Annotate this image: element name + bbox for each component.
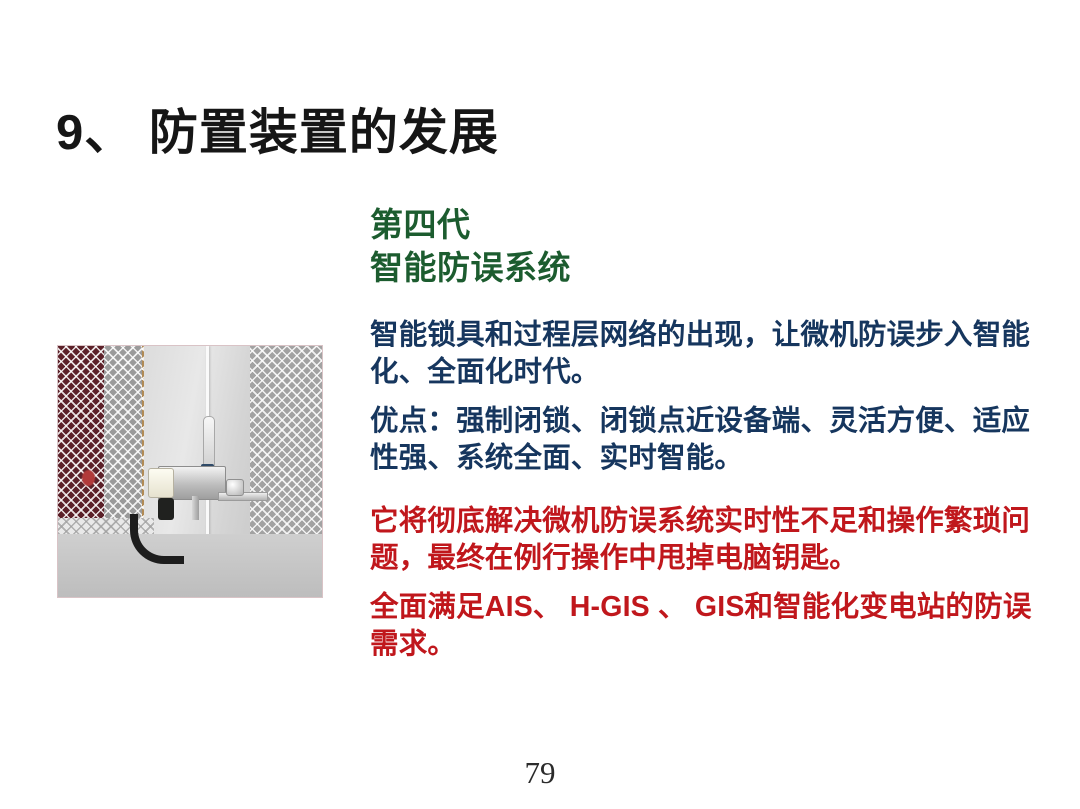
content-text-column: 第四代 智能防误系统 智能锁具和过程层网络的出现，让微机防误步入智能化、全面化时… (370, 204, 1050, 663)
generation-heading-line-1: 第四代 (370, 204, 1050, 247)
benefit-paragraph: 它将彻底解决微机防误系统实时性不足和操作繁琐问题，最终在例行操作中甩掉电脑钥匙。 (370, 503, 1050, 577)
spacer-blue-red (370, 477, 1050, 503)
smart-lock-bolt (192, 496, 199, 520)
spacer-red (370, 577, 1050, 589)
spacer-after-heading (370, 290, 1050, 317)
door-handle-slot (203, 416, 215, 470)
page-number: 79 (0, 755, 1080, 791)
generation-heading-line-2: 智能防误系统 (370, 247, 1050, 290)
slide-canvas: 9、 防置装置的发展 第四代 智能防误系统 智能锁具和 (0, 0, 1080, 809)
photo-inner (58, 346, 322, 597)
advantages-paragraph: 优点：强制闭锁、闭锁点近设备端、灵活方便、适应性强、系统全面、实时智能。 (370, 403, 1050, 477)
smart-lock-knob (226, 479, 244, 496)
description-paragraph: 智能锁具和过程层网络的出现，让微机防误步入智能化、全面化时代。 (370, 317, 1050, 391)
red-marker (82, 470, 95, 486)
lock-device-photo (57, 345, 323, 598)
spacer-blue (370, 391, 1050, 403)
smart-lock-cap (148, 468, 174, 498)
page-title: 9、 防置装置的发展 (56, 108, 499, 159)
coverage-paragraph: 全面满足AIS、 H-GIS 、 GIS和智能化变电站的防误需求。 (370, 589, 1050, 663)
floor-surface (58, 534, 322, 597)
